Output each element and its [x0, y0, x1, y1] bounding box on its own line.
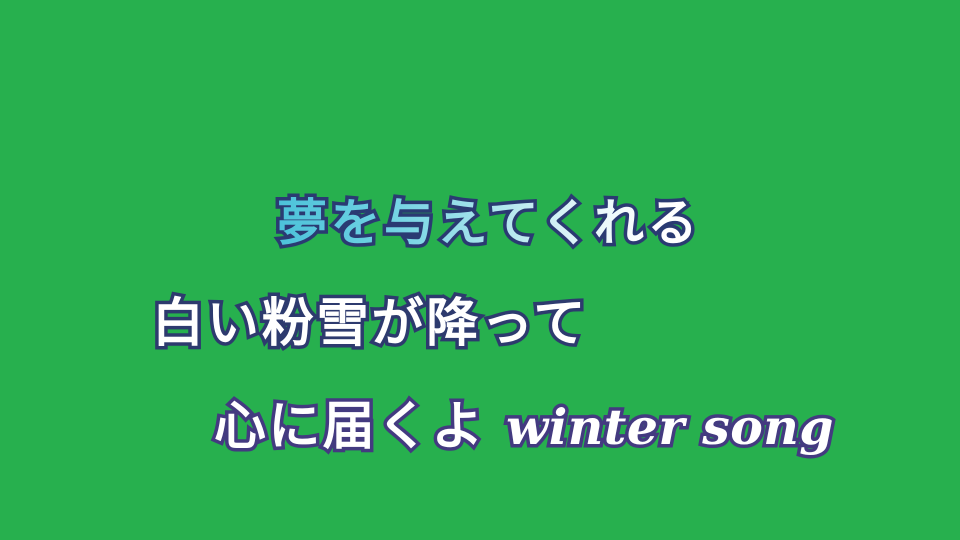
lyric-line-3-romaji: winter song — [506, 398, 834, 456]
lyric-line-3-text: 心に届くよ winter song — [214, 397, 834, 457]
lyric-line-2-text: 白い粉雪が降って — [152, 294, 588, 354]
video-frame: 夢を与えてくれる 夢を与えてくれる 白い粉雪が降って 白い粉雪が降って 心に届く… — [0, 0, 960, 540]
lyric-line-3: 心に届くよ winter song心に届くよ winter song — [214, 401, 834, 453]
lyric-line-1: 夢を与えてくれる 夢を与えてくれる — [277, 198, 701, 248]
lyric-line-2: 白い粉雪が降って 白い粉雪が降って — [152, 298, 588, 350]
lyric-line-1-text: 夢を与えてくれる — [277, 194, 701, 252]
lyric-line-3-japanese: 心に届くよ — [214, 397, 506, 457]
